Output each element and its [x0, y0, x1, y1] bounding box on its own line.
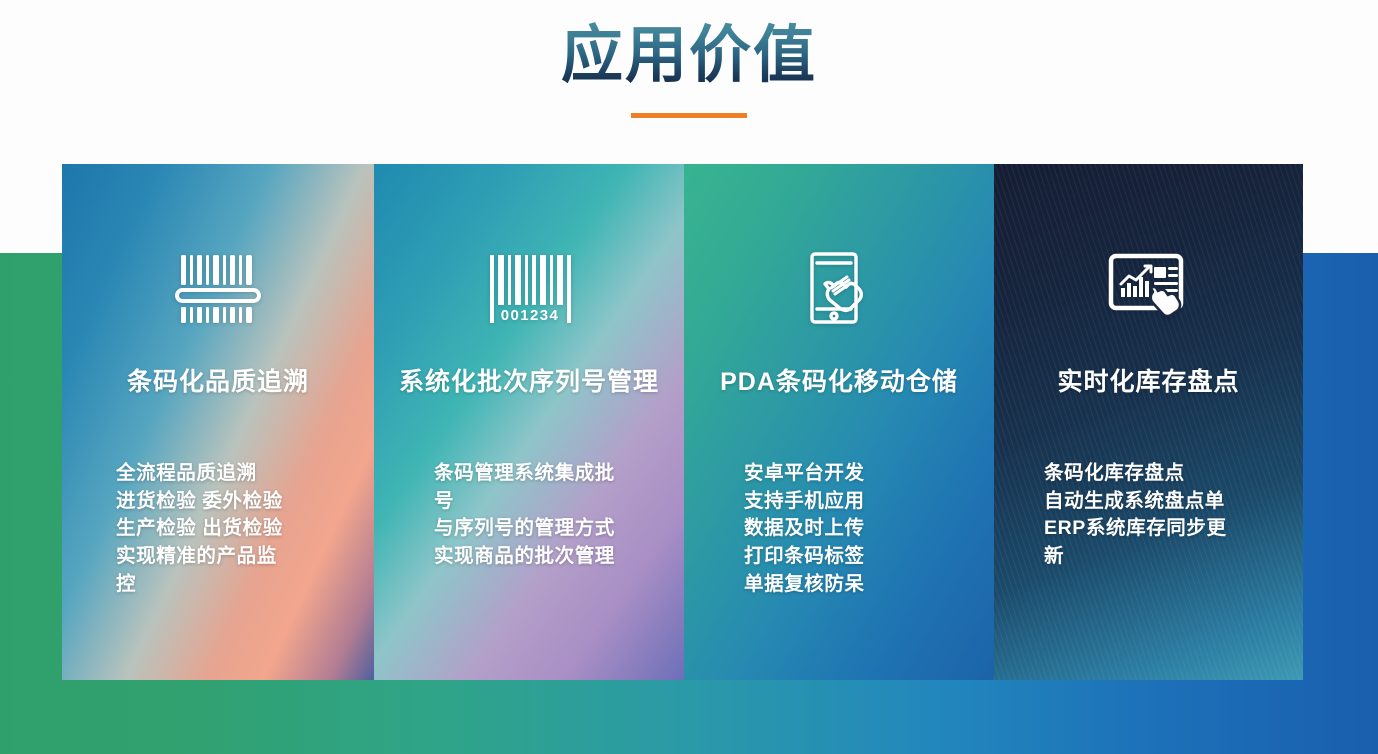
value-card-barcode-quality-trace[interactable]: 条码化品质追溯 全流程品质追溯 进货检验 委外检验 生产检验 出货检验 实现精准…: [62, 164, 374, 680]
card-description-line: 进货检验 委外检验: [116, 488, 320, 516]
card-title: 实时化库存盘点: [1057, 362, 1239, 398]
card-description-line: 数据及时上传: [744, 515, 934, 543]
card-description-line: 单据复核防呆: [744, 571, 934, 599]
card-description-line: ERP系统库存同步更: [1044, 515, 1253, 543]
section-header: 应用价值: [0, 0, 1378, 150]
card-description-line: 条码管理系统集成批号: [434, 460, 624, 515]
tablet-touch-icon: [799, 250, 879, 328]
tablet-chart-touch-icon: [1106, 250, 1192, 328]
value-card-realtime-inventory-count[interactable]: 实时化库存盘点 条码化库存盘点 自动生成系统盘点单 ERP系统库存同步更 新: [994, 164, 1303, 680]
card-description-line: 与序列号的管理方式: [434, 515, 624, 543]
card-description-line: 控: [116, 571, 320, 599]
value-cards-row: 条码化品质追溯 全流程品质追溯 进货检验 委外检验 生产检验 出货检验 实现精准…: [62, 164, 1303, 680]
card-title: 系统化批次序列号管理: [399, 362, 659, 398]
card-description: 安卓平台开发 支持手机应用 数据及时上传 打印条码标签 单据复核防呆: [684, 460, 994, 598]
card-description-line: 实现商品的批次管理: [434, 543, 624, 571]
card-description-line: 条码化库存盘点: [1044, 460, 1253, 488]
card-description-line: 新: [1044, 543, 1253, 571]
barcode-scanner-icon: [175, 250, 261, 328]
card-description-line: 全流程品质追溯: [116, 460, 320, 488]
card-description-line: 自动生成系统盘点单: [1044, 488, 1253, 516]
value-card-pda-mobile-warehouse[interactable]: PDA条码化移动仓储 安卓平台开发 支持手机应用 数据及时上传 打印条码标签 单…: [684, 164, 994, 680]
card-title: PDA条码化移动仓储: [720, 362, 958, 398]
application-value-section: 应用价值: [0, 0, 1378, 754]
card-description: 条码管理系统集成批号 与序列号的管理方式 实现商品的批次管理: [374, 460, 684, 571]
card-description-line: 安卓平台开发: [744, 460, 934, 488]
card-description-line: 生产检验 出货检验: [116, 515, 320, 543]
card-title: 条码化品质追溯: [127, 362, 309, 398]
card-description: 条码化库存盘点 自动生成系统盘点单 ERP系统库存同步更 新: [994, 460, 1303, 571]
title-underline-rule: [631, 113, 747, 118]
card-description-line: 实现精准的产品监: [116, 543, 320, 571]
card-description-line: 打印条码标签: [744, 543, 934, 571]
barcode-icon: 001234: [486, 250, 572, 328]
barcode-number: 001234: [501, 307, 559, 324]
value-card-batch-serial-management[interactable]: 001234 系统化批次序列号管理 条码管理系统集成批号 与序列号的管理方式 实…: [374, 164, 684, 680]
card-description: 全流程品质追溯 进货检验 委外检验 生产检验 出货检验 实现精准的产品监 控: [62, 460, 374, 598]
card-description-line: 支持手机应用: [744, 488, 934, 516]
page-title: 应用价值: [561, 20, 817, 91]
